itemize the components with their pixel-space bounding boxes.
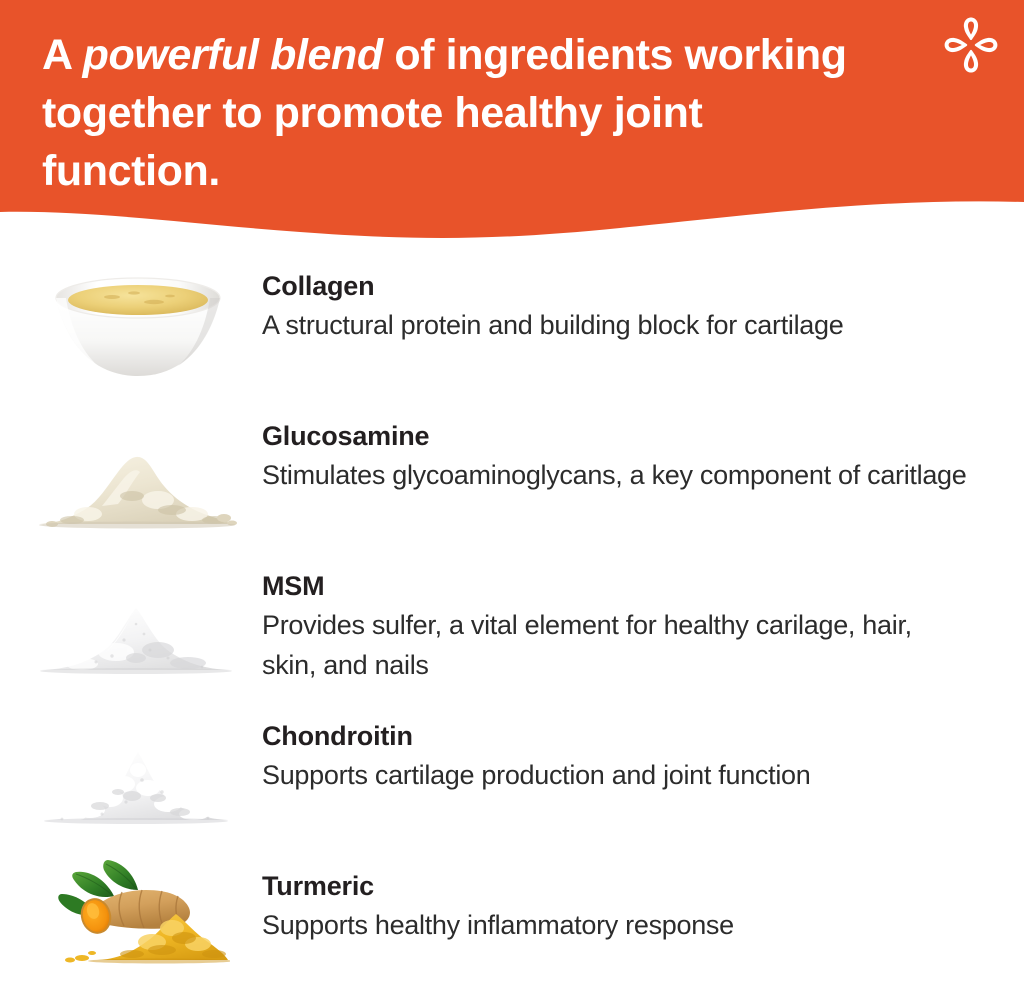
- ingredient-name: Turmeric: [262, 870, 994, 902]
- ingredient-copy: Turmeric Supports healthy inflammatory r…: [262, 856, 1024, 945]
- ingredient-image-wrap: [0, 706, 262, 856]
- infographic-page: A powerful blend of ingredients working …: [0, 0, 1024, 1007]
- list-item: Turmeric Supports healthy inflammatory r…: [0, 856, 1024, 976]
- ingredient-description: A structural protein and building block …: [262, 305, 972, 345]
- ingredient-name: Chondroitin: [262, 720, 994, 752]
- ingredient-copy: Collagen A structural protein and buildi…: [262, 256, 1024, 345]
- bowl-of-bone-broth-image: [50, 272, 226, 384]
- ingredient-image-wrap: [0, 856, 262, 976]
- ingredients-list: Collagen A structural protein and buildi…: [0, 256, 1024, 976]
- list-item: Collagen A structural protein and buildi…: [0, 256, 1024, 406]
- ingredient-name: Collagen: [262, 270, 994, 302]
- ingredient-name: MSM: [262, 570, 994, 602]
- ingredient-image-wrap: [0, 256, 262, 406]
- ingredient-name: Glucosamine: [262, 420, 994, 452]
- header-banner: A powerful blend of ingredients working …: [0, 0, 1024, 250]
- ingredient-image-wrap: [0, 556, 262, 706]
- four-petal-pinwheel-logo-icon: [942, 14, 1000, 76]
- ingredient-copy: Chondroitin Supports cartilage productio…: [262, 706, 1024, 795]
- white-granular-powder-mound-image: [32, 740, 240, 826]
- ingredient-copy: MSM Provides sulfer, a vital element for…: [262, 556, 1024, 685]
- ingredient-description: Supports healthy inflammatory response: [262, 905, 972, 945]
- ingredient-image-wrap: [0, 406, 262, 556]
- headline-emphasis: powerful blend: [83, 31, 383, 79]
- page-headline: A powerful blend of ingredients working …: [42, 26, 872, 200]
- list-item: Glucosamine Stimulates glycoaminoglycans…: [0, 406, 1024, 556]
- ingredient-description: Supports cartilage production and joint …: [262, 755, 972, 795]
- ingredient-description: Stimulates glycoaminoglycans, a key comp…: [262, 455, 972, 495]
- list-item: MSM Provides sulfer, a vital element for…: [0, 556, 1024, 706]
- ingredient-copy: Glucosamine Stimulates glycoaminoglycans…: [262, 406, 1024, 495]
- headline-text-start: A: [42, 31, 83, 79]
- turmeric-root-and-powder-image: [48, 856, 230, 964]
- list-item: Chondroitin Supports cartilage productio…: [0, 706, 1024, 856]
- ingredient-description: Provides sulfer, a vital element for hea…: [262, 605, 972, 685]
- cream-powder-mound-image: [32, 444, 240, 530]
- white-powder-cone-image: [32, 594, 240, 676]
